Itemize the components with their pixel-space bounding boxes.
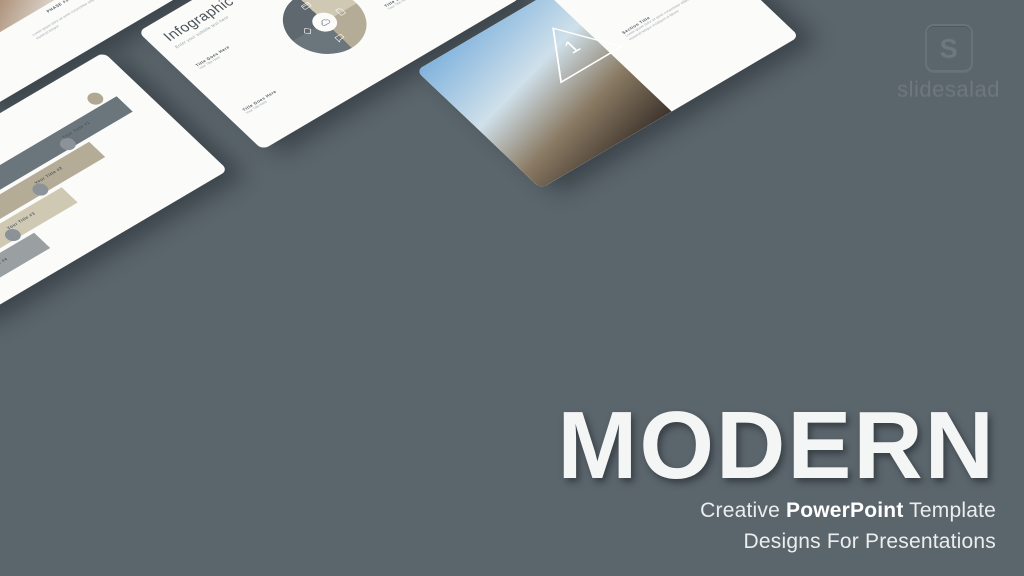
tagline-bold: PowerPoint bbox=[786, 499, 904, 522]
promo-stage: Retail Design Lorem ipsum dolor sit amet… bbox=[0, 0, 1024, 576]
tag-icon bbox=[300, 25, 316, 37]
tagline-post: Template bbox=[904, 499, 996, 522]
logo-mark: S bbox=[925, 24, 973, 72]
card-icon bbox=[298, 0, 314, 12]
section-text: Section Title Lorem ipsum dolor sit amet… bbox=[621, 0, 727, 42]
logo-wordmark: slidesalad bbox=[897, 76, 1000, 102]
slidesalad-watermark: S slidesalad bbox=[897, 24, 1000, 102]
brand-block: MODERN Creative PowerPoint Template Desi… bbox=[526, 400, 996, 554]
slide-section-break-one[interactable]: 1 Section Title Lorem ipsum dolor sit am… bbox=[416, 0, 799, 189]
chat-icon bbox=[332, 32, 348, 44]
slide-infographic-bars[interactable]: Infographic Slide Enter your subtitle te… bbox=[0, 52, 228, 322]
tagline-line-2: Designs For Presentations bbox=[526, 530, 996, 554]
doc-icon bbox=[332, 6, 348, 18]
page-title: MODERN bbox=[526, 400, 996, 492]
tagline-line-1: Creative PowerPoint Template bbox=[526, 499, 996, 523]
logo-letter: S bbox=[940, 35, 958, 62]
tagline-pre: Creative bbox=[700, 499, 786, 522]
